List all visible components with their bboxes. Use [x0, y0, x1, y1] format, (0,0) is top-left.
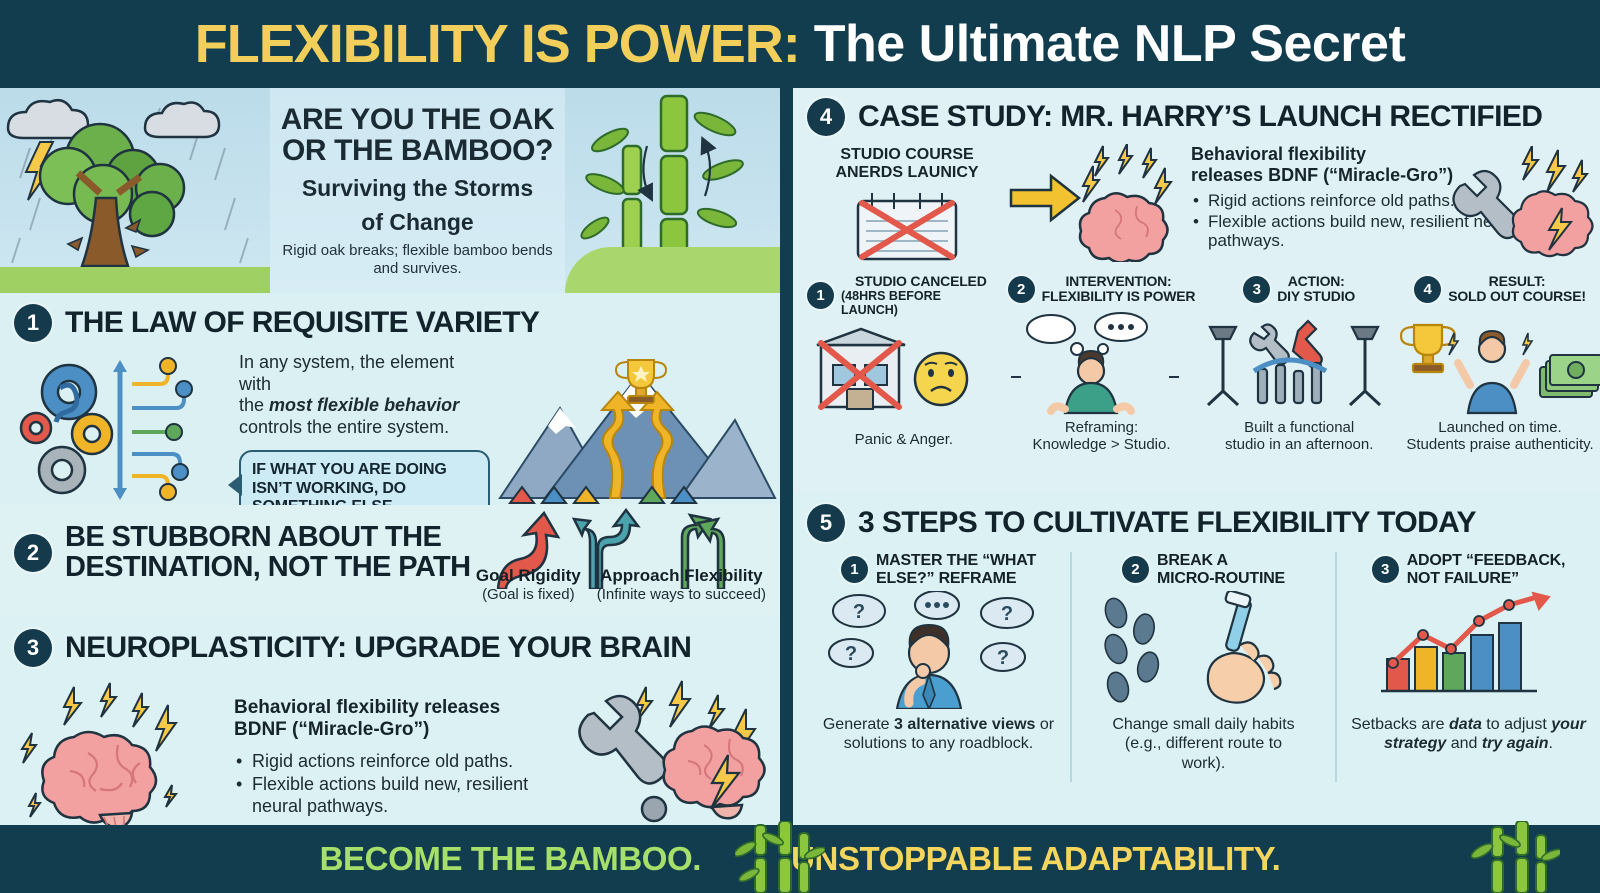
header-title-rest: The Ultimate NLP Secret [814, 14, 1406, 74]
timeline-step-4: 4 RESULT: SOLD OUT COURSE! [1400, 274, 1600, 454]
timeline-1-art [807, 321, 1001, 429]
timeline-2-label-line2: FLEXIBILITY IS POWER [1042, 289, 1196, 304]
step-3-label-line1: ADOPT “FEEDBACK, [1407, 552, 1566, 570]
timeline-1-badge: 1 [807, 282, 834, 309]
section-1-title: THE LAW OF REQUISITE VARIETY [65, 308, 539, 339]
gears-circuit-illustration [14, 348, 239, 504]
section-3-panel: 3 NEUROPLASTICITY: UPGRADE YOUR BRAIN [0, 617, 780, 825]
timeline-step-1: 1 STUDIO CANCELED (48HRS BEFORE LAUNCH) [807, 274, 1001, 454]
timeline-3-label-line2: DIY STUDIO [1277, 289, 1355, 304]
section-3-title: NEUROPLASTICITY: UPGRADE YOUR BRAIN [65, 633, 691, 664]
approach-flexibility-label: Approach Flexibility (Infinite ways to s… [597, 567, 766, 603]
timeline-3-label-line1: ACTION: [1277, 274, 1355, 289]
goal-rigidity-sub: (Goal is fixed) [476, 586, 581, 603]
step-3-art [1347, 591, 1590, 709]
timeline-1-label: STUDIO CANCELED [841, 274, 1001, 289]
step-3-caption-bold3: try again [1482, 735, 1549, 752]
rising-bar-chart-icon [1347, 591, 1587, 709]
step-3-label-line2: NOT FAILURE” [1407, 570, 1566, 588]
section-4-left-caption-line2: ANERDS LAUNICY [807, 164, 1007, 182]
column-divider [780, 88, 790, 825]
section-3-bullet-list: Rigid actions reinforce old paths. Flexi… [234, 751, 550, 818]
step-3-caption-pre: Setbacks are [1351, 716, 1449, 733]
section-2-title-line2: DESTINATION, NOT THE PATH [65, 553, 471, 583]
oak-tree-illustration [0, 88, 270, 293]
timeline-2-art [1005, 309, 1199, 417]
section-4-title: CASE STUDY: MR. HARRY’S LAUNCH RECTIFIED [858, 102, 1542, 133]
step-1-caption-post: roadblock. [959, 735, 1033, 752]
section-5-step-1: 1 MASTER THE “WHAT ELSE?” REFRAME [807, 552, 1070, 782]
step-1-caption-bold1: 3 alternative [894, 716, 987, 733]
timeline-4-badge: 4 [1414, 276, 1441, 303]
hero-text-block: ARE YOU THE OAK OR THE BAMBOO? Surviving… [270, 88, 565, 293]
section-1-body-part2: controls the entire system. [239, 417, 449, 437]
section-3-heading-line1: Behavioral flexibility releases [234, 697, 550, 719]
timeline-3-caption: Built a functional studio in an afternoo… [1225, 419, 1373, 454]
goal-rigidity-main: Goal Rigidity [476, 567, 581, 586]
step-2-caption-line2: (e.g., different route to [1125, 735, 1282, 752]
callout-line3: SOMETHING ELSE. [252, 498, 477, 505]
timeline-3-art [1202, 309, 1396, 417]
trophy-celebration-money-icon [1400, 309, 1600, 417]
footer-left-text: BECOME THE BAMBOO. [320, 840, 701, 878]
section-3-header: 3 NEUROPLASTICITY: UPGRADE YOUR BRAIN [14, 629, 780, 667]
section-2-labels: Goal Rigidity (Goal is fixed) Approach F… [476, 567, 766, 603]
step-2-caption-line1: Change small daily habits [1112, 716, 1294, 733]
bamboo-illustration [565, 88, 780, 293]
svg-text:?: ? [845, 643, 857, 665]
step-3-caption-and: and [1446, 735, 1482, 752]
section-4-header: 4 CASE STUDY: MR. HARRY’S LAUNCH RECTIFI… [807, 98, 1600, 136]
step-2-art [1082, 591, 1325, 709]
mountain-illustration [490, 348, 780, 504]
section-5-header: 5 3 STEPS TO CULTIVATE FLEXIBILITY TODAY [807, 504, 1600, 542]
section-5-title: 3 STEPS TO CULTIVATE FLEXIBILITY TODAY [858, 508, 1476, 539]
section-5-step-3: 3 ADOPT “FEEDBACK, NOT FAILURE” [1335, 552, 1600, 782]
footsteps-toothbrush-hand-icon [1082, 591, 1322, 709]
approach-flexibility-main: Approach Flexibility [597, 567, 766, 586]
step-2-caption-line3: work). [1182, 755, 1226, 772]
step-2-label-line2: MICRO-ROUTINE [1157, 570, 1285, 588]
section-3-text: Behavioral flexibility releases BDNF (“M… [234, 679, 550, 825]
section-1-callout: IF WHAT YOU ARE DOING ISN’T WORKING, DO … [239, 450, 490, 505]
section-4-middle-block [1007, 144, 1187, 264]
hero-panel: ARE YOU THE OAK OR THE BAMBOO? Surviving… [0, 88, 780, 293]
timeline-2-badge: 2 [1008, 276, 1035, 303]
section-3-bullet: Flexible actions build new, resilient ne… [234, 774, 550, 817]
goal-rigidity-label: Goal Rigidity (Goal is fixed) [476, 567, 581, 603]
step-2-caption: Change small daily habits (e.g., differe… [1082, 715, 1325, 773]
step-1-caption: Generate 3 alternative views or solution… [817, 715, 1060, 753]
poster-header: FLEXIBILITY IS POWER: The Ultimate NLP S… [0, 0, 1600, 88]
timeline-4-caption-line1: Launched on time. [1438, 419, 1561, 436]
step-2-badge: 2 [1122, 556, 1149, 583]
timeline-4-caption: Launched on time. Students praise authen… [1406, 419, 1593, 454]
timeline-4-label-line2: SOLD OUT COURSE! [1448, 289, 1586, 304]
svg-text:?: ? [1001, 603, 1013, 625]
section-4-badge: 4 [807, 98, 845, 136]
svg-text:?: ? [997, 647, 1009, 669]
timeline-2-label-line1: INTERVENTION: [1042, 274, 1196, 289]
storm-cloud-oak-tree-icon [0, 88, 270, 293]
section-1-badge: 1 [14, 304, 52, 342]
timeline-2-caption-line1: Reframing: [1065, 419, 1138, 436]
bamboo-cluster-icon-right [1470, 821, 1560, 893]
timeline-3-caption-line1: Built a functional [1244, 419, 1354, 436]
section-1-body-emphasis: most flexible behavior [269, 395, 459, 415]
step-1-caption-pre: Generate [823, 716, 894, 733]
timeline-3-badge: 3 [1243, 276, 1270, 303]
hero-heading-line1: ARE YOU THE OAK [281, 104, 554, 136]
footer-right-text: UNSTOPPABLE ADAPTABILITY. [791, 840, 1280, 878]
section-2-title-line1: BE STUBBORN ABOUT THE [65, 523, 471, 553]
timeline-1-sublabel: (48HRS BEFORE LAUNCH) [841, 289, 1001, 317]
timeline-4-caption-line2: Students praise authenticity. [1406, 436, 1593, 453]
section-1-body-part1: In any system, the element with [239, 352, 454, 394]
thinking-person-question-bubbles-icon: ?? ?? [817, 591, 1057, 709]
step-1-label-line2: ELSE?” REFRAME [876, 570, 1036, 588]
timeline-3-caption-line2: studio in an afternoon. [1225, 436, 1373, 453]
bamboo-cluster-icon [735, 821, 825, 893]
callout-line1: IF WHAT YOU ARE DOING [252, 461, 477, 479]
section-3-badge: 3 [14, 629, 52, 667]
step-1-caption-bold2: views [992, 716, 1036, 733]
yellow-arrow-right-icon [1007, 144, 1187, 262]
section-2-panel: 2 BE STUBBORN ABOUT THE DESTINATION, NOT… [0, 505, 780, 617]
approach-flexibility-sub: (Infinite ways to succeed) [597, 586, 766, 603]
timeline-4-label-line1: RESULT: [1448, 274, 1586, 289]
svg-text:?: ? [853, 601, 865, 623]
section-5-panel: 5 3 STEPS TO CULTIVATE FLEXIBILITY TODAY… [790, 493, 1600, 825]
step-1-label-line1: MASTER THE “WHAT [876, 552, 1036, 570]
hero-subheading-line1: Surviving the Storms [302, 176, 533, 201]
hero-caption: Rigid oak breaks; flexible bamboo bends … [278, 242, 557, 277]
section-1-body-the: the [239, 395, 269, 415]
section-5-step-2: 2 BREAK A MICRO-ROUTINE [1070, 552, 1335, 782]
right-column: 4 CASE STUDY: MR. HARRY’S LAUNCH RECTIFI… [790, 88, 1600, 825]
timeline-2-caption-line2: Knowledge > Studio. [1032, 436, 1170, 453]
callout-line2: ISN’T WORKING, DO [252, 480, 477, 498]
timeline-1-caption: Panic & Anger. [855, 431, 953, 448]
section-3-heading-line2: BDNF (“Miracle-Gro”) [234, 719, 550, 741]
electric-brain-icon [14, 679, 234, 825]
closed-studio-sad-face-icon [807, 321, 987, 429]
step-3-badge: 3 [1372, 556, 1399, 583]
ground-mound [565, 247, 780, 293]
spacer [1191, 264, 1421, 265]
section-1-header: 1 THE LAW OF REQUISITE VARIETY [14, 304, 780, 342]
wrench-brain-icon [550, 679, 780, 825]
timeline-step-3: 3 ACTION: DIY STUDIO [1202, 274, 1396, 454]
wrench-brain-icon-small [1440, 146, 1600, 264]
poster-footer: BECOME THE BAMBOO. [0, 825, 1600, 893]
section-5-badge: 5 [807, 504, 845, 542]
case-study-timeline: 1 STUDIO CANCELED (48HRS BEFORE LAUNCH) [807, 274, 1600, 454]
electric-brain-illustration-left [14, 679, 234, 825]
gears-circuit-icon [14, 348, 239, 504]
mountain-trophy-paths-icon [490, 348, 780, 505]
step-3-caption-bold1: data [1449, 716, 1482, 733]
step-3-caption-post: . [1549, 735, 1553, 752]
infographic-poster: FLEXIBILITY IS POWER: The Ultimate NLP S… [0, 0, 1600, 893]
hero-heading-line2: OR THE BAMBOO? [282, 135, 553, 167]
step-1-badge: 1 [841, 556, 868, 583]
step-1-art: ?? ?? [817, 591, 1060, 709]
wrench-brain-illustration [550, 679, 780, 825]
section-1-panel: 1 THE LAW OF REQUISITE VARIETY [0, 293, 780, 505]
step-2-label-line1: BREAK A [1157, 552, 1285, 570]
header-title-highlight: FLEXIBILITY IS POWER: [195, 13, 800, 75]
poster-body: ARE YOU THE OAK OR THE BAMBOO? Surviving… [0, 88, 1600, 825]
lightning-bolt-icon [1083, 144, 1171, 204]
diy-lighting-tools-icon [1202, 309, 1392, 417]
section-4-panel: 4 CASE STUDY: MR. HARRY’S LAUNCH RECTIFI… [790, 88, 1600, 493]
section-2-badge: 2 [14, 534, 52, 572]
hero-subheading-line2: of Change [361, 210, 473, 235]
timeline-2-caption: Reframing: Knowledge > Studio. [1032, 419, 1170, 454]
canceled-calendar-icon [832, 187, 982, 267]
section-4-left-caption-line1: STUDIO COURSE [807, 146, 1007, 164]
left-column: ARE YOU THE OAK OR THE BAMBOO? Surviving… [0, 88, 780, 825]
timeline-step-2: 2 INTERVENTION: FLEXIBILITY IS POWER [1005, 274, 1199, 454]
timeline-4-art [1400, 309, 1600, 417]
step-3-caption-mid: to adjust [1482, 716, 1551, 733]
section-3-bullet: Rigid actions reinforce old paths. [234, 751, 550, 773]
section-4-left-block: STUDIO COURSE ANERDS LAUNICY [807, 144, 1007, 264]
section-1-text: In any system, the element with the most… [239, 348, 490, 504]
step-3-caption: Setbacks are data to adjust your strateg… [1347, 715, 1590, 753]
meditating-person-thought-bubbles-icon [1005, 309, 1185, 417]
ground-strip [0, 267, 270, 293]
